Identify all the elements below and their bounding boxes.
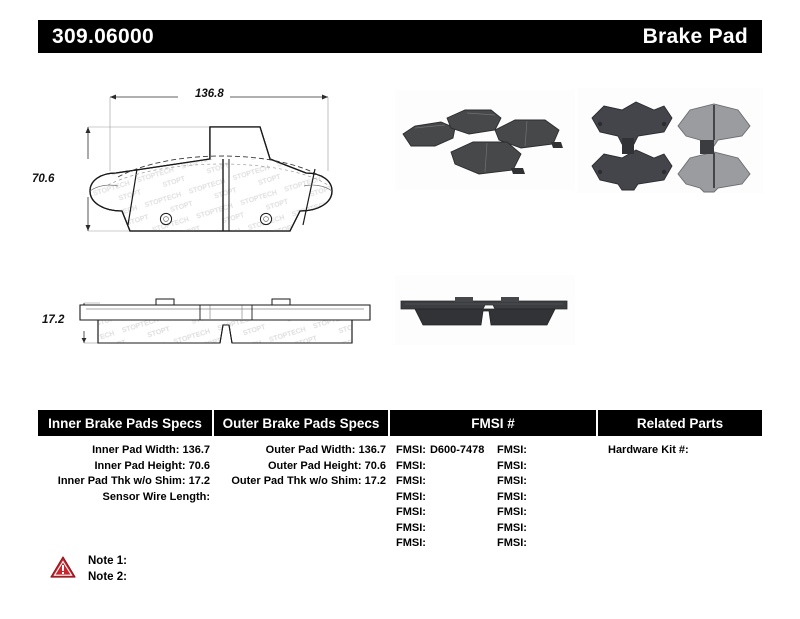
spec-row: Outer Pad Width: 136.7 — [214, 443, 390, 459]
column-header-related-parts: Related Parts — [598, 410, 762, 436]
fmsi-row: FMSI: — [497, 505, 598, 521]
fmsi-row: FMSI:D600-7478 — [396, 443, 497, 459]
fmsi-label: FMSI: — [497, 537, 527, 549]
pad-back-top-left — [592, 102, 672, 146]
fmsi-value — [527, 444, 531, 456]
fmsi-value — [527, 491, 531, 503]
title-bar: 309.06000 Brake Pad — [38, 20, 762, 53]
fmsi-label: FMSI: — [497, 475, 527, 487]
fmsi-row: FMSI: — [396, 505, 497, 521]
fmsi-label: FMSI: — [396, 460, 426, 472]
note-2: Note 2: — [88, 569, 127, 585]
drawing-area: STOPTECH STOPTECH — [0, 70, 800, 390]
fmsi-column: FMSI:D600-7478 FMSI: FMSI: FMSI: FMSI: — [390, 443, 598, 552]
fmsi-value — [527, 522, 531, 534]
fmsi-value — [426, 491, 430, 503]
spec-row: Inner Pad Width: 136.7 — [38, 443, 214, 459]
top-view-drawing: STOPTECH STOPTECH — [60, 85, 390, 275]
fmsi-row: FMSI: — [497, 443, 598, 459]
spec-row: Inner Pad Thk w/o Shim: 17.2 — [38, 474, 214, 490]
fmsi-row: FMSI: — [396, 521, 497, 537]
fmsi-label: FMSI: — [396, 537, 426, 549]
fmsi-label: FMSI: — [497, 522, 527, 534]
inner-specs-column: Inner Pad Width: 136.7 Inner Pad Height:… — [38, 443, 214, 552]
fmsi-subcolumn-left: FMSI:D600-7478 FMSI: FMSI: FMSI: FMSI: — [396, 443, 497, 552]
photo-edge-svg — [395, 275, 575, 345]
pad-face-top-right — [678, 104, 750, 148]
fmsi-label: FMSI: — [396, 522, 426, 534]
fmsi-label: FMSI: — [497, 491, 527, 503]
fmsi-label: FMSI: — [497, 444, 527, 456]
fmsi-value — [527, 506, 531, 518]
height-dimension-label: 70.6 — [32, 173, 54, 185]
pad-back-bottom-left — [592, 146, 672, 190]
spec-value: 136.7 — [182, 444, 210, 456]
fmsi-label: FMSI: — [497, 460, 527, 472]
spec-label: Inner Pad Thk w/o Shim: — [58, 475, 186, 487]
fmsi-value: D600-7478 — [426, 444, 484, 456]
related-parts-column: Hardware Kit #: — [598, 443, 762, 552]
product-photo-grid-group — [578, 88, 763, 193]
related-part-row: Hardware Kit #: — [598, 443, 762, 459]
spec-row: Outer Pad Height: 70.6 — [214, 459, 390, 475]
fmsi-label: FMSI: — [396, 444, 426, 456]
fmsi-value — [426, 460, 430, 472]
column-header-inner-specs: Inner Brake Pads Specs — [38, 410, 214, 436]
photo-grid-svg — [578, 88, 763, 193]
spec-value: 136.7 — [358, 444, 386, 456]
side-view-svg: STOPTECH STOPTECH — [60, 285, 390, 360]
spec-label: Sensor Wire Length: — [103, 491, 210, 503]
spec-row: Outer Pad Thk w/o Shim: 17.2 — [214, 474, 390, 490]
fmsi-row: FMSI: — [396, 474, 497, 490]
fmsi-row: FMSI: — [497, 521, 598, 537]
outer-specs-column: Outer Pad Width: 136.7 Outer Pad Height:… — [214, 443, 390, 552]
pad-face-bottom-right — [678, 146, 750, 192]
photo-angled-svg — [395, 90, 575, 190]
spec-label: Outer Pad Thk w/o Shim: — [231, 475, 361, 487]
column-header-outer-specs: Outer Brake Pads Specs — [214, 410, 390, 436]
spec-label: Outer Pad Height: — [268, 460, 362, 472]
spec-row: Sensor Wire Length: — [38, 490, 214, 506]
spec-value: 70.6 — [365, 460, 386, 472]
spec-label: Inner Pad Height: — [94, 460, 185, 472]
spec-row: Inner Pad Height: 70.6 — [38, 459, 214, 475]
fmsi-subcolumn-right: FMSI: FMSI: FMSI: FMSI: FMSI: — [497, 443, 598, 552]
fmsi-value — [527, 475, 531, 487]
fmsi-label: FMSI: — [396, 506, 426, 518]
product-photo-edge — [395, 275, 575, 345]
product-photo-angled-group — [395, 90, 575, 190]
spec-label: Outer Pad Width: — [266, 444, 356, 456]
fmsi-row: FMSI: — [396, 536, 497, 552]
fmsi-row: FMSI: — [396, 459, 497, 475]
spec-label: Inner Pad Width: — [92, 444, 179, 456]
spec-table: Inner Brake Pads Specs Outer Brake Pads … — [38, 410, 762, 552]
spec-table-header-row: Inner Brake Pads Specs Outer Brake Pads … — [38, 410, 762, 436]
width-dimension-label: 136.8 — [195, 88, 224, 100]
spec-value: 17.2 — [365, 475, 386, 487]
spec-table-body: Inner Pad Width: 136.7 Inner Pad Height:… — [38, 436, 762, 552]
fmsi-label: FMSI: — [396, 475, 426, 487]
side-view-drawing: STOPTECH STOPTECH — [60, 285, 390, 360]
fmsi-value — [426, 475, 430, 487]
fmsi-value — [426, 537, 430, 549]
fmsi-value — [426, 506, 430, 518]
fmsi-row: FMSI: — [497, 459, 598, 475]
fmsi-value — [426, 522, 430, 534]
spec-value: 17.2 — [189, 475, 210, 487]
spec-value: 70.6 — [189, 460, 210, 472]
fmsi-row: FMSI: — [396, 490, 497, 506]
fmsi-value — [527, 537, 531, 549]
top-view-svg: STOPTECH STOPTECH — [60, 85, 390, 275]
fmsi-value — [527, 460, 531, 472]
fmsi-row: FMSI: — [497, 474, 598, 490]
fmsi-label: FMSI: — [396, 491, 426, 503]
note-1: Note 1: — [88, 553, 127, 569]
product-type-label: Brake Pad — [643, 25, 748, 49]
warning-triangle-icon — [50, 555, 76, 579]
notes-section: Note 1: Note 2: — [50, 553, 127, 585]
fmsi-row: FMSI: — [497, 490, 598, 506]
fmsi-row: FMSI: — [497, 536, 598, 552]
column-header-fmsi: FMSI # — [390, 410, 598, 436]
part-number: 309.06000 — [52, 25, 154, 49]
thickness-dimension-label: 17.2 — [42, 314, 64, 326]
related-part-label: Hardware Kit #: — [608, 444, 689, 456]
fmsi-label: FMSI: — [497, 506, 527, 518]
brake-pad-outline — [60, 85, 390, 275]
